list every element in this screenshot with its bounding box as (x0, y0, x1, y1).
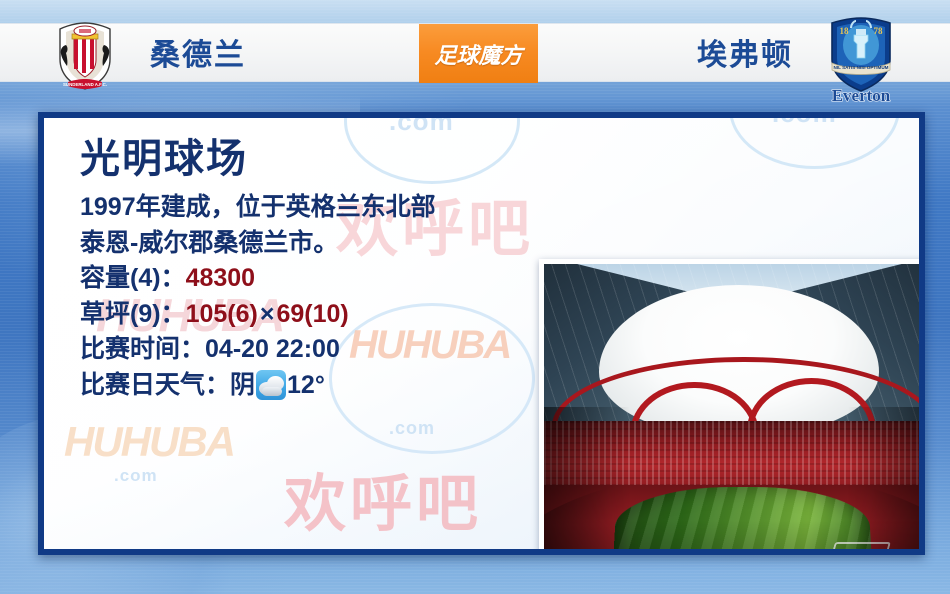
everton-year-left: 18 (840, 26, 850, 36)
brand-badge[interactable]: 足球魔方 (419, 24, 538, 83)
match-header-bar: SUNDERLAND A.F.C. 桑德兰 足球魔方 埃弗顿 18 78 NIL… (0, 23, 950, 82)
stadium-description-line-1: 1997年建成，位于英格兰东北部 (80, 190, 436, 226)
match-stadium-infographic: SUNDERLAND A.F.C. 桑德兰 足球魔方 埃弗顿 18 78 NIL… (0, 0, 950, 594)
svg-text:SUNDERLAND A.F.C.: SUNDERLAND A.F.C. (63, 82, 107, 87)
kickoff-row: 比赛时间：04-20 22:00 (80, 332, 436, 368)
svg-text:NIL SATIS NISI OPTIMUM: NIL SATIS NISI OPTIMUM (834, 65, 889, 70)
pitch-length-value: 105(6) (186, 300, 258, 328)
stadium-photo-frame[interactable] (539, 259, 925, 555)
weather-condition: 阴 (230, 371, 255, 399)
weather-label: 比赛日天气： (80, 371, 230, 399)
capacity-label: 容量(4)： (80, 264, 186, 292)
kickoff-value: 04-20 22:00 (205, 335, 340, 363)
kickoff-label: 比赛时间： (80, 335, 205, 363)
sunderland-crest: SUNDERLAND A.F.C. (52, 21, 118, 91)
everton-crest: 18 78 NIL SATIS NISI OPTIMUM Everton (820, 15, 902, 103)
stadium-info-card: .com .com 欢呼吧 HUHUBA HUHUBA .com HUHUBA … (38, 112, 925, 555)
cloudy-weather-icon (256, 370, 286, 400)
weather-temperature: 12° (287, 371, 325, 399)
capacity-value: 48300 (186, 264, 256, 292)
pitch-label: 草坪(9)： (80, 300, 186, 328)
stadium-description-line-2: 泰恩-威尔郡桑德兰市。 (80, 226, 436, 262)
everton-wordmark: Everton (832, 86, 891, 103)
capacity-row: 容量(4)：48300 (80, 261, 436, 297)
pitch-width-value: 69(10) (276, 300, 348, 328)
home-team-name: 桑德兰 (150, 30, 246, 74)
stadium-photo (544, 264, 925, 555)
stadium-info-text: 光明球场 1997年建成，位于英格兰东北部 泰恩-威尔郡桑德兰市。 容量(4)：… (80, 138, 436, 403)
everton-year-right: 78 (874, 26, 884, 36)
pitch-dimension-separator: × (258, 300, 277, 328)
brand-badge-label: 足球魔方 (434, 38, 522, 70)
weather-row: 比赛日天气：阴12° (80, 368, 436, 404)
away-team-name: 埃弗顿 (697, 30, 793, 74)
pitch-row: 草坪(9)：105(6)×69(10) (80, 297, 436, 333)
stadium-title: 光明球场 (80, 138, 436, 180)
